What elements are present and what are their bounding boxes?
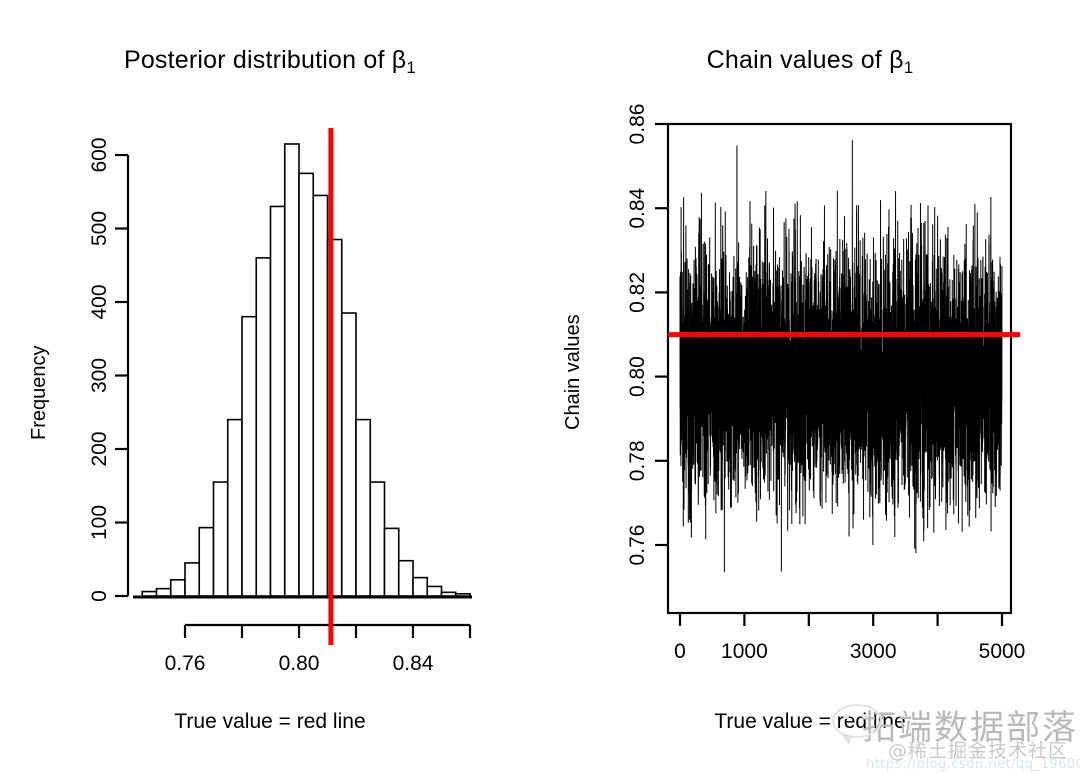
watermark-bubble-eye-right-icon: [862, 714, 867, 719]
watermark-bubble-eye-left-icon: [844, 714, 849, 719]
left-ytick-200: 200: [88, 431, 111, 466]
histogram-bars: [142, 144, 470, 596]
left-plot-svg: 0 100 200 300 400 500 600: [0, 0, 540, 771]
histogram-bar: [427, 586, 441, 596]
right-ytick-086: 0.86: [626, 104, 649, 145]
left-ytick-0: 0: [88, 590, 111, 602]
histogram-bar: [299, 173, 313, 596]
right-caption: True value = red line: [540, 710, 1080, 734]
left-xtick-076: 0.76: [165, 652, 206, 675]
right-xtick-0: 0: [674, 640, 686, 663]
histogram-bar: [313, 195, 327, 596]
histogram-bar: [285, 144, 299, 596]
histogram-bar: [356, 420, 370, 596]
histogram-bar: [271, 206, 285, 596]
right-y-tick-labels: 0.76 0.78 0.80 0.82 0.84 0.86: [626, 104, 649, 566]
histogram-bar: [413, 578, 427, 596]
right-ytick-078: 0.78: [626, 440, 649, 481]
left-caption: True value = red line: [0, 710, 540, 734]
histogram-bar: [256, 258, 270, 596]
right-xtick-1000: 1000: [721, 640, 768, 663]
histogram-bar: [442, 592, 456, 596]
left-x-axis: [185, 625, 470, 638]
histogram-bar: [199, 528, 213, 596]
left-xtick-084: 0.84: [393, 652, 434, 675]
histogram-bar: [242, 317, 256, 596]
right-xtick-3000: 3000: [850, 640, 897, 663]
histogram-bar: [342, 313, 356, 596]
left-xtick-080: 0.80: [279, 652, 320, 675]
right-xtick-5000: 5000: [979, 640, 1026, 663]
panel-chain-trace: Chain values of β1 Chain values 0.76 0.7…: [540, 0, 1080, 771]
histogram-bar: [142, 592, 156, 596]
left-ytick-500: 500: [88, 211, 111, 246]
histogram-bar: [171, 580, 185, 596]
right-ytick-076: 0.76: [626, 525, 649, 566]
histogram-bar: [399, 561, 413, 596]
left-y-axis: [115, 155, 128, 596]
histogram-bar: [214, 482, 228, 596]
histogram-bar: [370, 482, 384, 596]
right-plot-svg: 0.76 0.78 0.80 0.82 0.84 0.86: [540, 0, 1080, 771]
left-x-tick-labels: 0.76 0.80 0.84: [165, 652, 434, 675]
chain-trace-line: [680, 140, 1002, 572]
right-ytick-084: 0.84: [626, 187, 649, 228]
histogram-bar: [185, 563, 199, 596]
left-y-tick-labels: 0 100 200 300 400 500 600: [88, 137, 111, 601]
panel-posterior-histogram: Posterior distribution of β1 Frequency 0…: [0, 0, 540, 771]
left-ytick-600: 600: [88, 137, 111, 172]
histogram-bar: [385, 528, 399, 596]
left-ytick-300: 300: [88, 358, 111, 393]
right-x-axis: [680, 613, 1002, 626]
right-x-tick-labels: 0 1000 3000 5000: [674, 640, 1025, 663]
watermark-speech-bubble-icon: [832, 704, 882, 738]
right-ytick-080: 0.80: [626, 356, 649, 397]
histogram-bar: [228, 420, 242, 596]
figure-canvas: Posterior distribution of β1 Frequency 0…: [0, 0, 1080, 771]
right-ytick-082: 0.82: [626, 272, 649, 313]
left-ytick-400: 400: [88, 284, 111, 319]
histogram-bar: [157, 589, 171, 596]
right-y-axis: [655, 124, 668, 545]
left-ytick-100: 100: [88, 505, 111, 540]
